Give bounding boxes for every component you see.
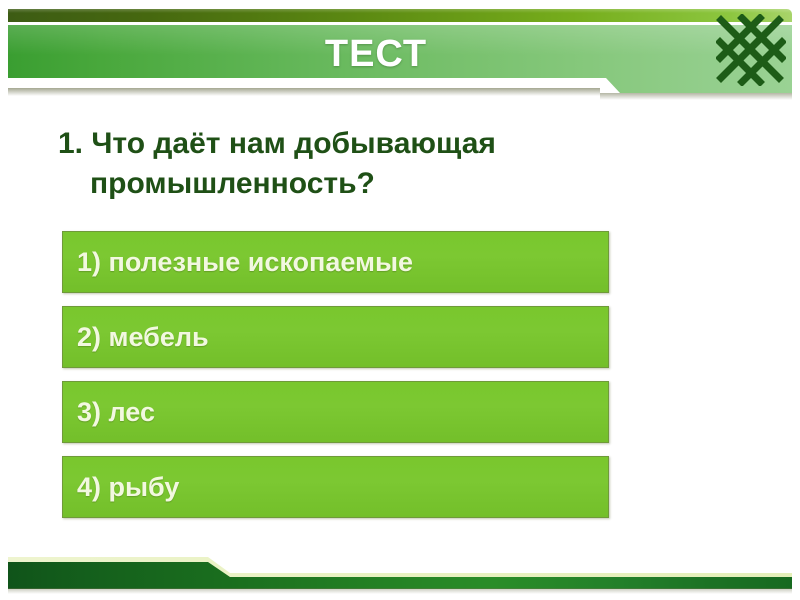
question-line-2: промышленность?	[58, 164, 698, 204]
answer-option-2-label: 2) мебель	[63, 322, 209, 353]
slide-footer	[0, 555, 800, 600]
braided-lattice-logo	[716, 14, 786, 86]
answer-option-1[interactable]: 1) полезные ископаемые	[62, 231, 609, 293]
answer-options-list: 1) полезные ископаемые 2) мебель 3) лес …	[62, 231, 609, 531]
question-text: 1. Что даёт нам добывающая промышленност…	[58, 124, 698, 204]
answer-option-1-label: 1) полезные ископаемые	[63, 247, 413, 278]
answer-option-3[interactable]: 3) лес	[62, 381, 609, 443]
test-slide: ТЕСТ 1. Что даёт	[0, 0, 800, 600]
header-shadow-right	[600, 93, 792, 100]
answer-option-2[interactable]: 2) мебель	[62, 306, 609, 368]
footer-shadow	[8, 588, 792, 594]
answer-option-3-label: 3) лес	[63, 397, 155, 428]
question-line-1: 1. Что даёт нам добывающая	[58, 124, 698, 164]
answer-option-4[interactable]: 4) рыбу	[62, 456, 609, 518]
answer-option-4-label: 4) рыбу	[63, 472, 179, 503]
braided-lattice-icon	[716, 14, 786, 86]
header-shadow-left	[8, 88, 600, 96]
header-top-strip	[8, 9, 792, 22]
page-title: ТЕСТ	[0, 31, 752, 77]
slide-header: ТЕСТ	[0, 0, 800, 100]
